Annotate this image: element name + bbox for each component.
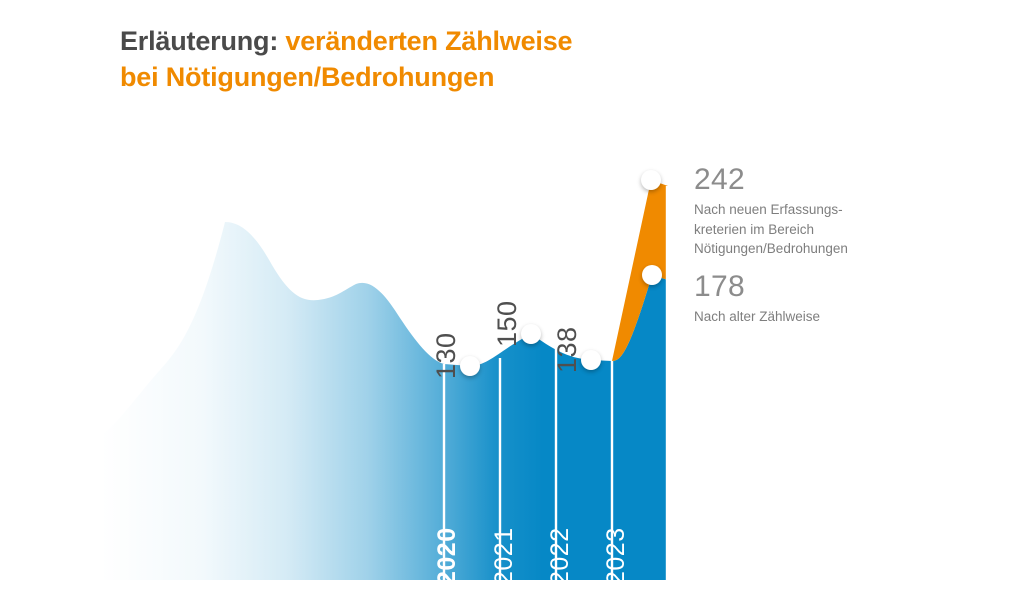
data-point-marker-2022: [581, 350, 601, 370]
annotation-new-method: 242 Nach neuen Erfassungs- kreterien im …: [694, 163, 914, 259]
annotation-old-method: 178 Nach alter Zählweise: [694, 270, 914, 327]
title-prefix: Erläuterung:: [120, 26, 285, 56]
area-chart: 130 150 138 2020 2021 2022 2023: [0, 120, 700, 580]
page-title: Erläuterung: veränderten Zählweise bei N…: [120, 24, 720, 96]
annotation-desc-242: Nach neuen Erfassungs- kreterien im Bere…: [694, 200, 914, 259]
data-point-marker-2023-new: [641, 170, 661, 190]
annotation-value-242: 242: [694, 163, 914, 196]
annotation-value-178: 178: [694, 270, 914, 303]
series-area-blue: [100, 222, 668, 580]
value-label-2020: 130: [431, 332, 462, 379]
title-accent-line2: bei Nötigungen/Bedrohungen: [120, 62, 494, 92]
value-label-2021: 150: [492, 300, 523, 347]
data-point-marker-2021: [521, 324, 541, 344]
axis-label-2021: 2021: [490, 527, 519, 585]
title-accent-line1: veränderten Zählweise: [285, 26, 572, 56]
axis-label-2022: 2022: [546, 527, 575, 585]
axis-label-2023: 2023: [602, 527, 631, 585]
data-point-marker-2023-old: [642, 265, 662, 285]
axis-label-2020: 2020: [433, 527, 462, 585]
value-label-2022: 138: [552, 326, 583, 373]
data-point-marker-2020: [460, 356, 480, 376]
chart-screenshot: Erläuterung: veränderten Zählweise bei N…: [0, 0, 1024, 590]
annotation-desc-178: Nach alter Zählweise: [694, 307, 914, 327]
